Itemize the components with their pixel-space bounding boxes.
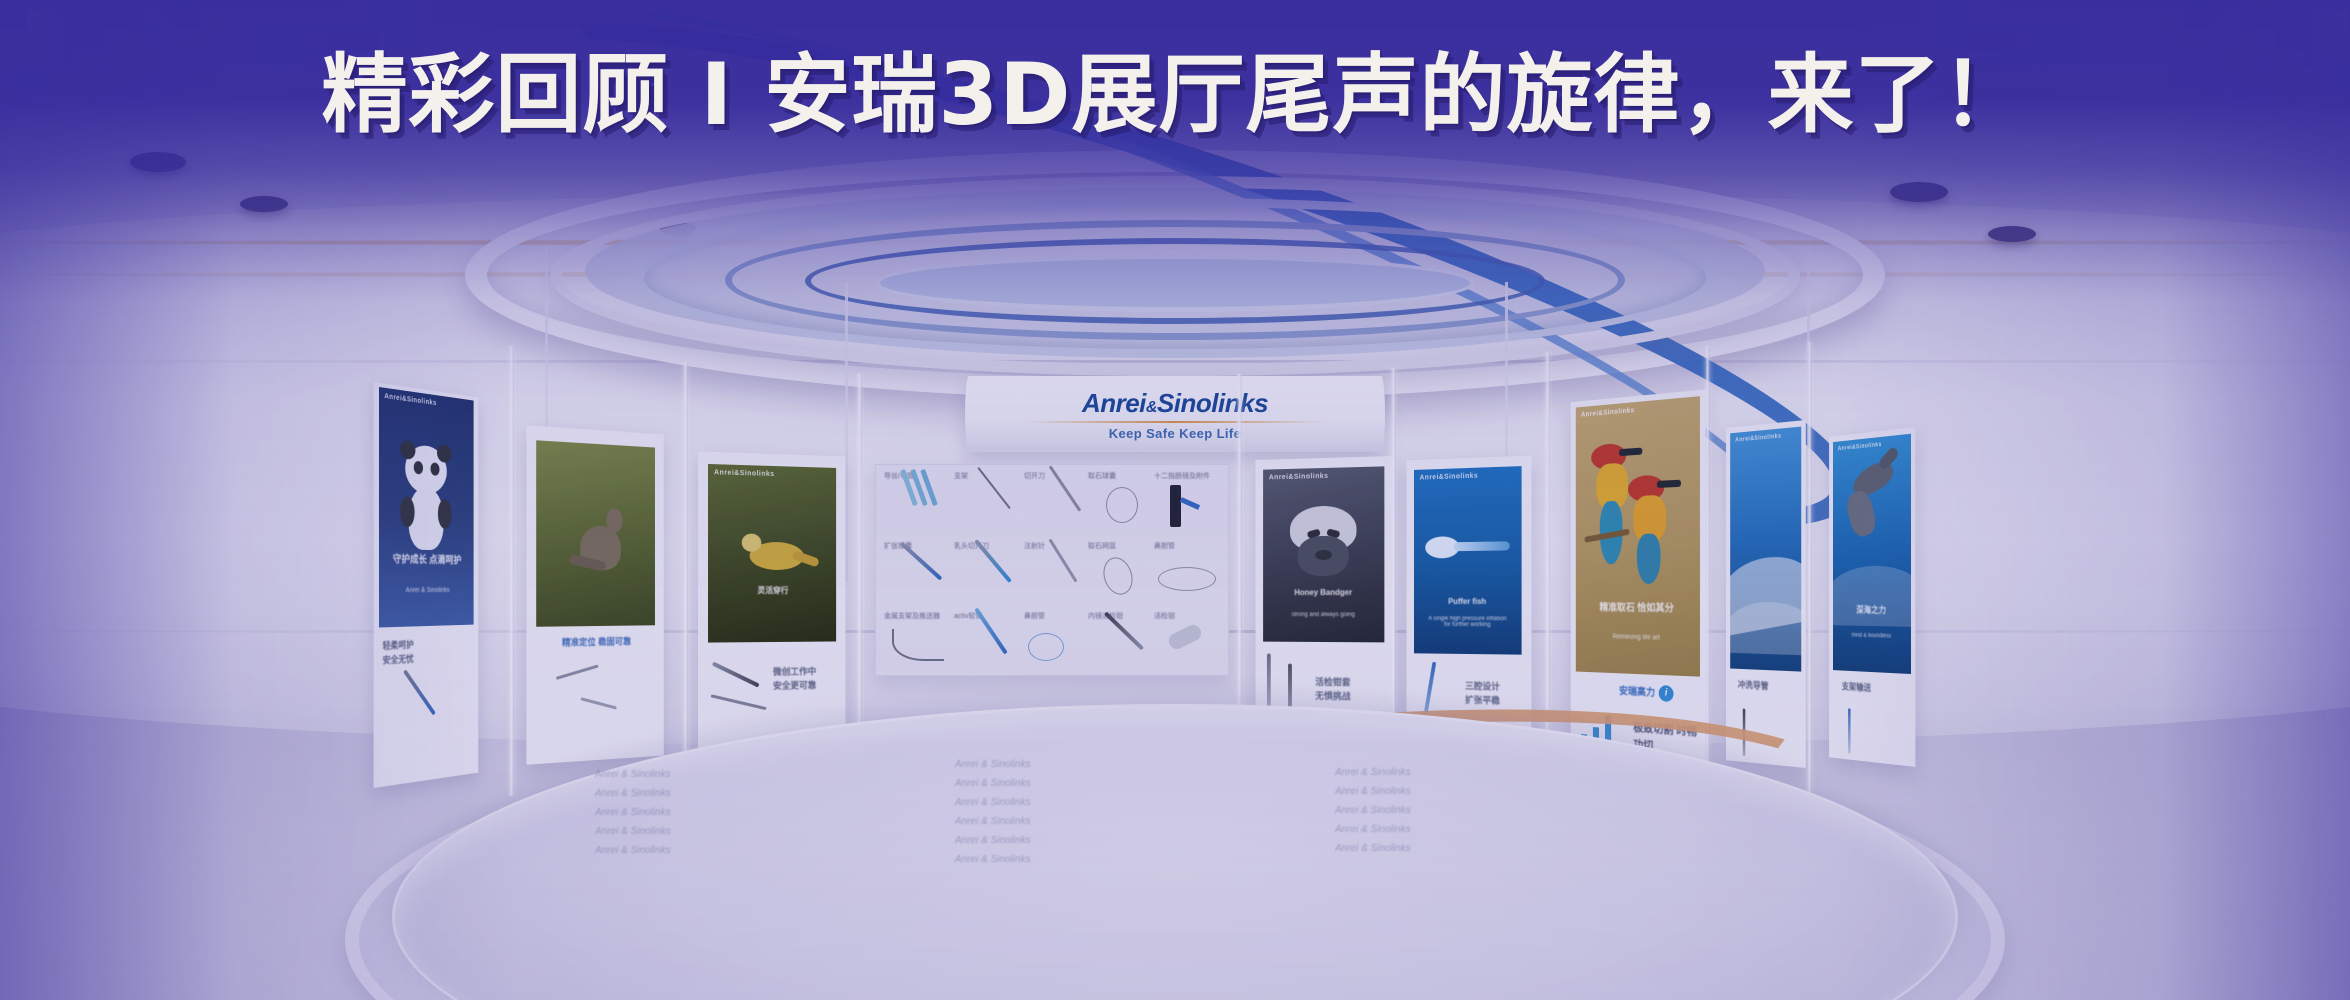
exhibition-banner-image: Anrei&Sinolinks Keep Safe Keep Life Anre… bbox=[0, 0, 2350, 1000]
product-cell: 取石球囊 bbox=[1088, 471, 1116, 481]
product-label: 活检钳 bbox=[1154, 611, 1175, 621]
product-display-board[interactable]: 导丝/导管 支架 切开刀 取石球囊 十二指肠镜及附件 bbox=[875, 464, 1229, 676]
product-label: 鼻胆管 bbox=[1154, 541, 1175, 551]
page-title: 精彩回顾 I 安瑞3D展厅尾声的旋律，来了！ bbox=[0, 24, 2350, 149]
product-label: 十二指肠镜及附件 bbox=[1154, 471, 1210, 481]
poster-brandtag: Anrei&Sinolinks bbox=[1581, 407, 1635, 419]
panel-caption: 支架输送 bbox=[1842, 680, 1871, 695]
product-label: 金属支架及推送器 bbox=[884, 611, 940, 621]
balloon-illustration bbox=[1425, 525, 1512, 566]
instrument-graphic bbox=[711, 694, 767, 710]
brand-badge-text: 安瑞高力 bbox=[1619, 684, 1655, 701]
poster-brandtag: Anrei&Sinolinks bbox=[1838, 442, 1882, 452]
product-cell: 支架 bbox=[954, 471, 968, 481]
poster-brandtag: Anrei&Sinolinks bbox=[1269, 473, 1329, 481]
panel-caption: 精准定位 稳固可靠 bbox=[538, 635, 653, 651]
poster-title: Honey Bandger bbox=[1263, 588, 1384, 597]
exhibit-panel-whale[interactable]: Anrei&Sinolinks 深海之力 mind & boundless 支架… bbox=[1829, 427, 1915, 767]
exhibit-panel-kangaroo[interactable]: 精准定位 稳固可靠 bbox=[526, 425, 663, 764]
snare-loop-icon bbox=[1106, 487, 1138, 523]
product-cell: 金属支架及推送器 bbox=[884, 611, 940, 621]
poster-ocean-wave[interactable]: Anrei&Sinolinks bbox=[1730, 427, 1801, 672]
product-cell: 注射针 bbox=[1024, 541, 1045, 551]
whale-silhouette bbox=[1847, 457, 1900, 545]
stent-icon bbox=[892, 629, 944, 661]
product-label: 支架 bbox=[954, 471, 968, 481]
poster-bee-eater[interactable]: Anrei&Sinolinks 精准取石 恰如其分 Retrieving lif… bbox=[1576, 396, 1700, 676]
panel-caption: 轻柔呵护安全无忧 bbox=[383, 636, 466, 667]
instrument-graphic bbox=[712, 662, 760, 688]
frog-illustration bbox=[734, 531, 819, 584]
panel-caption: 三腔设计扩张平稳 bbox=[1465, 680, 1529, 709]
panel-caption: 冲洗导管 bbox=[1738, 679, 1769, 694]
poster-brandtag: Anrei&Sinolinks bbox=[1420, 473, 1479, 482]
product-cell: 扩张球囊 bbox=[884, 541, 912, 551]
product-label: 取石网篮 bbox=[1088, 541, 1116, 551]
basket-icon bbox=[1099, 554, 1137, 599]
panel-caption: 活检钳套无惧挑战 bbox=[1315, 676, 1386, 704]
bee-eater-birds-illustration bbox=[1591, 432, 1686, 586]
wave-shape bbox=[1730, 602, 1801, 656]
floor-text-column: Anrei & Sinolinks Anrei & Sinolinks Anre… bbox=[1335, 763, 1411, 858]
brand-badge: 安瑞高力 i bbox=[1619, 683, 1673, 702]
poster-whale[interactable]: Anrei&Sinolinks 深海之力 mind & boundless bbox=[1833, 434, 1911, 674]
instrument-graphic bbox=[403, 669, 436, 715]
poster-brandtag: Anrei&Sinolinks bbox=[714, 469, 775, 478]
product-label: 切开刀 bbox=[1024, 471, 1045, 481]
glass-post bbox=[509, 346, 514, 796]
exhibit-panel-ocean[interactable]: Anrei&Sinolinks 冲洗导管 bbox=[1726, 420, 1806, 768]
product-label: 注射针 bbox=[1024, 541, 1045, 551]
exhibit-panel-panda[interactable]: Anrei&Sinolinks 守护成长 点滴呵护 Anrei & Sinoli… bbox=[374, 382, 479, 788]
ceiling-ring-inner bbox=[875, 254, 1475, 312]
kangaroo-silhouette bbox=[569, 505, 634, 594]
product-cell: 鼻胆管 bbox=[1024, 611, 1045, 621]
floor-text-column: Anrei & Sinolinks Anrei & Sinolinks Anre… bbox=[595, 765, 671, 860]
poster-subtitle: strong and always going bbox=[1263, 612, 1384, 618]
product-cell: 切开刀 bbox=[1024, 471, 1045, 481]
glass-post bbox=[683, 362, 688, 802]
product-cell: 导丝/导管 bbox=[884, 471, 914, 481]
poster-title: 深海之力 bbox=[1833, 603, 1911, 617]
poster-brandtag: Anrei&Sinolinks bbox=[384, 393, 436, 407]
product-label: 鼻胆管 bbox=[1024, 611, 1045, 621]
product-cell: 乳头切开刀 bbox=[954, 541, 989, 551]
poster-brandtag: Anrei&Sinolinks bbox=[1735, 433, 1781, 443]
poster-kangaroo[interactable] bbox=[536, 440, 655, 626]
product-label: 取石球囊 bbox=[1088, 471, 1116, 481]
ceiling-spotlight-icon bbox=[240, 196, 288, 212]
glass-post bbox=[1807, 342, 1812, 797]
product-cell: 鼻胆管 bbox=[1154, 541, 1175, 551]
poster-puffer[interactable]: Anrei&Sinolinks Puffer fish A single hig… bbox=[1414, 466, 1522, 655]
instrument-graphic bbox=[581, 697, 617, 709]
poster-subtitle: A single high pressure inflation for fur… bbox=[1414, 616, 1522, 628]
poster-subtitle: Retrieving life art bbox=[1576, 633, 1700, 643]
poster-title: Puffer fish bbox=[1414, 597, 1522, 606]
product-cell: 内镜活检钳 bbox=[1088, 611, 1123, 621]
ceiling-spotlight-icon bbox=[1988, 226, 2036, 242]
poster-frog[interactable]: Anrei&Sinolinks 灵活穿行 bbox=[708, 464, 836, 643]
product-cell: 十二指肠镜及附件 bbox=[1154, 471, 1210, 481]
clip-icon bbox=[1166, 622, 1204, 651]
honey-badger-face bbox=[1290, 505, 1356, 578]
exhibit-panel-frog[interactable]: Anrei&Sinolinks 灵活穿行 微创工作中安全更可靠 bbox=[698, 451, 846, 756]
poster-subtitle: mind & boundless bbox=[1833, 632, 1911, 640]
poster-title: 精准取石 恰如其分 bbox=[1576, 599, 1700, 615]
poster-subtitle: Anrei & Sinolinks bbox=[379, 586, 474, 593]
info-mark-icon: i bbox=[1659, 685, 1674, 702]
product-cell: 活检钳 bbox=[1154, 611, 1175, 621]
poster-title: 守护成长 点滴呵护 bbox=[379, 549, 474, 566]
poster-panda[interactable]: Anrei&Sinolinks 守护成长 点滴呵护 Anrei & Sinoli… bbox=[379, 387, 474, 628]
product-label: 导丝/导管 bbox=[884, 471, 914, 481]
product-cell: activ软管 bbox=[954, 611, 982, 621]
poster-honey-badger[interactable]: Anrei&Sinolinks Honey Bandger strong and… bbox=[1263, 466, 1384, 642]
loop-wire-icon bbox=[1028, 633, 1064, 661]
poster-title: 灵活穿行 bbox=[708, 585, 836, 596]
panel-caption: 微创工作中安全更可靠 bbox=[773, 665, 840, 693]
floor-text-column: Anrei & Sinolinks Anrei & Sinolinks Anre… bbox=[955, 755, 1031, 869]
catheter-loop-icon bbox=[1158, 567, 1216, 591]
instrument-graphic bbox=[556, 664, 599, 679]
product-cell: 取石网篮 bbox=[1088, 541, 1116, 551]
instrument-graphic bbox=[1848, 708, 1850, 754]
ceiling-spotlight-icon bbox=[130, 152, 186, 172]
wave-shape bbox=[1833, 565, 1911, 627]
